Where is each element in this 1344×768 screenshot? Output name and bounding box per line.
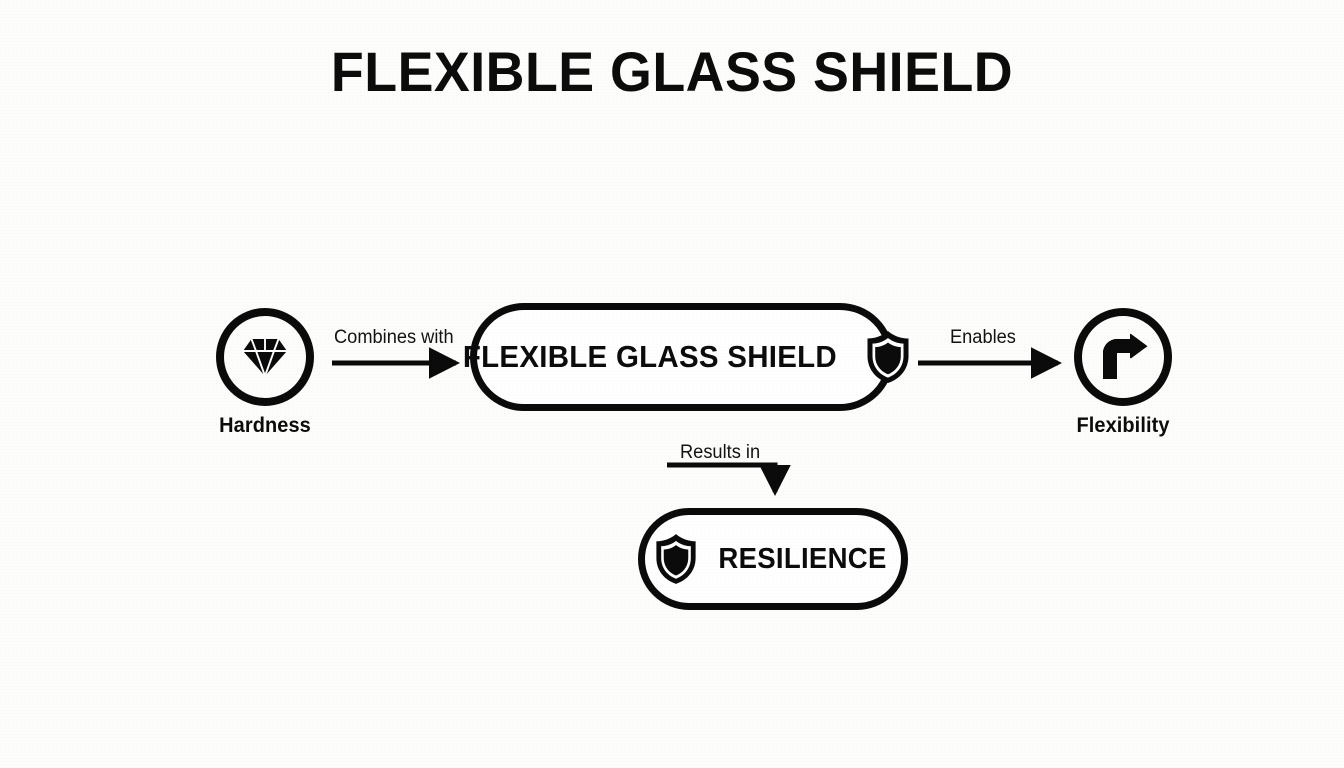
node-flexibility-label: Flexibility — [1038, 414, 1207, 438]
edge-label-results-in: Results in — [680, 442, 760, 464]
edge-label-combines-with: Combines with — [334, 327, 454, 349]
node-resilience[interactable]: RESILIENCE — [638, 508, 908, 610]
node-resilience-label: RESILIENCE — [719, 543, 887, 576]
edge-results-in-arrow — [667, 465, 775, 492]
node-flexibility[interactable]: Flexibility — [1074, 308, 1172, 406]
page-title: FLEXIBLE GLASS SHIELD — [27, 44, 1317, 100]
diamond-icon — [216, 308, 314, 406]
node-flexible-glass-shield[interactable]: FLEXIBLE GLASS SHIELD — [470, 303, 894, 411]
node-flexible-glass-shield-label: FLEXIBLE GLASS SHIELD — [463, 339, 837, 375]
shield-icon — [654, 533, 698, 585]
diagram-canvas: FLEXIBLE GLASS SHIELD Combines with Enab… — [0, 0, 1344, 768]
shield-icon — [865, 330, 911, 384]
turn-right-arrow-icon — [1074, 308, 1172, 406]
edge-label-enables: Enables — [950, 327, 1016, 349]
node-hardness[interactable]: Hardness — [216, 308, 314, 406]
node-hardness-label: Hardness — [180, 414, 349, 438]
